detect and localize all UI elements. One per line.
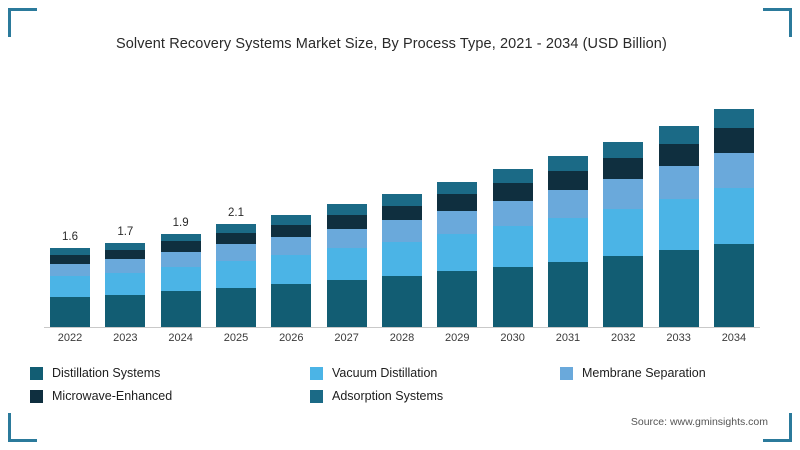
bar-segment[interactable]: [437, 194, 477, 210]
x-axis-tick-label: 2034: [714, 332, 754, 344]
corner-bracket-top-right: [763, 8, 792, 37]
plot-area: 1.61.71.92.1: [44, 92, 760, 328]
bar-segment[interactable]: [327, 229, 367, 249]
x-axis-tick-label: 2028: [382, 332, 422, 344]
bar-segment[interactable]: [327, 280, 367, 327]
bar-segment[interactable]: [548, 218, 588, 262]
legend-label: Vacuum Distillation: [332, 366, 437, 380]
x-axis-tick-label: 2033: [659, 332, 699, 344]
bar-segment[interactable]: [714, 109, 754, 128]
legend-label: Microwave-Enhanced: [52, 389, 172, 403]
bar-segment[interactable]: [603, 158, 643, 179]
x-axis-tick-label: 2031: [548, 332, 588, 344]
legend-row: Distillation SystemsVacuum DistillationM…: [30, 366, 770, 380]
bar-segment[interactable]: [271, 284, 311, 327]
bar-segment[interactable]: [382, 194, 422, 206]
bar-value-label: 1.9: [173, 217, 189, 229]
bar-column[interactable]: [603, 92, 643, 327]
bar-segment[interactable]: [437, 182, 477, 195]
legend-label: Distillation Systems: [52, 366, 160, 380]
bar-column[interactable]: 1.7: [105, 92, 145, 327]
bar-segment[interactable]: [659, 199, 699, 251]
corner-bracket-bottom-left: [8, 413, 37, 442]
bar-segment[interactable]: [161, 241, 201, 251]
bar-segment[interactable]: [659, 250, 699, 327]
bar-segment[interactable]: [548, 171, 588, 190]
legend-item[interactable]: Microwave-Enhanced: [30, 389, 310, 403]
x-axis-tick-label: 2030: [493, 332, 533, 344]
x-axis-tick-label: 2025: [216, 332, 256, 344]
legend-swatch-icon: [30, 390, 43, 403]
legend-row: Microwave-EnhancedAdsorption Systems: [30, 389, 770, 403]
chart-canvas: Solvent Recovery Systems Market Size, By…: [0, 0, 800, 450]
bar-segment[interactable]: [216, 261, 256, 288]
bar-segment[interactable]: [659, 126, 699, 144]
bar-segment[interactable]: [603, 256, 643, 327]
bar-segment[interactable]: [50, 297, 90, 327]
bar-segment[interactable]: [382, 220, 422, 242]
bar-column[interactable]: [493, 92, 533, 327]
bar-segment[interactable]: [714, 128, 754, 153]
bar-segment[interactable]: [603, 209, 643, 257]
bar-column[interactable]: [659, 92, 699, 327]
bar-segment[interactable]: [548, 190, 588, 218]
bar-segment[interactable]: [216, 233, 256, 244]
legend-swatch-icon: [310, 390, 323, 403]
bar-segment[interactable]: [603, 179, 643, 209]
x-axis-tick-label: 2022: [50, 332, 90, 344]
bar-group: 1.61.71.92.1: [44, 92, 760, 327]
bar-segment[interactable]: [161, 291, 201, 327]
bar-segment[interactable]: [493, 226, 533, 266]
corner-bracket-top-left: [8, 8, 37, 37]
legend-item[interactable]: Vacuum Distillation: [310, 366, 560, 380]
legend-label: Adsorption Systems: [332, 389, 443, 403]
bar-segment[interactable]: [493, 169, 533, 183]
chart-title: Solvent Recovery Systems Market Size, By…: [116, 36, 667, 52]
legend-swatch-icon: [310, 367, 323, 380]
legend: Distillation SystemsVacuum DistillationM…: [30, 366, 770, 412]
x-axis-tick-label: 2026: [271, 332, 311, 344]
bar-column[interactable]: [382, 92, 422, 327]
bar-column[interactable]: 1.9: [161, 92, 201, 327]
bar-segment[interactable]: [437, 271, 477, 327]
bar-column[interactable]: 2.1: [216, 92, 256, 327]
bar-segment[interactable]: [548, 262, 588, 327]
x-axis-tick-label: 2029: [437, 332, 477, 344]
bar-segment[interactable]: [50, 264, 90, 277]
bar-segment[interactable]: [493, 183, 533, 201]
bar-column[interactable]: [271, 92, 311, 327]
bar-segment[interactable]: [105, 295, 145, 327]
bar-column[interactable]: [437, 92, 477, 327]
bar-segment[interactable]: [493, 201, 533, 227]
bar-segment[interactable]: [327, 204, 367, 215]
bar-value-label: 1.6: [62, 231, 78, 243]
legend-swatch-icon: [560, 367, 573, 380]
bar-segment[interactable]: [437, 211, 477, 235]
bar-segment[interactable]: [714, 153, 754, 188]
bar-segment[interactable]: [161, 234, 201, 242]
bar-segment[interactable]: [216, 288, 256, 327]
bar-segment[interactable]: [271, 237, 311, 255]
bar-segment[interactable]: [714, 244, 754, 327]
bar-segment[interactable]: [382, 242, 422, 276]
bar-segment[interactable]: [493, 267, 533, 327]
legend-item[interactable]: Membrane Separation: [560, 366, 770, 380]
x-axis-tick-label: 2032: [603, 332, 643, 344]
bar-segment[interactable]: [50, 276, 90, 296]
bar-segment[interactable]: [216, 244, 256, 261]
bar-segment[interactable]: [161, 252, 201, 267]
bar-segment[interactable]: [327, 215, 367, 229]
bar-segment[interactable]: [161, 267, 201, 291]
x-axis-tick-label: 2023: [105, 332, 145, 344]
bar-segment[interactable]: [105, 250, 145, 259]
x-axis-tick-label: 2024: [161, 332, 201, 344]
bar-segment[interactable]: [603, 142, 643, 158]
x-axis-tick-labels: 2022202320242025202620272028202920302031…: [44, 332, 760, 344]
source-note: Source: www.gminsights.com: [631, 416, 768, 428]
x-axis-tick-label: 2027: [327, 332, 367, 344]
legend-swatch-icon: [30, 367, 43, 380]
bar-value-label: 1.7: [117, 226, 133, 238]
bar-segment[interactable]: [382, 206, 422, 221]
bar-segment[interactable]: [659, 144, 699, 167]
bar-segment[interactable]: [548, 156, 588, 171]
bar-segment[interactable]: [216, 224, 256, 233]
x-axis-line: [44, 327, 760, 328]
bar-segment[interactable]: [659, 166, 699, 198]
bar-segment[interactable]: [714, 188, 754, 244]
bar-column[interactable]: [714, 92, 754, 327]
legend-label: Membrane Separation: [582, 366, 706, 380]
bar-column[interactable]: [548, 92, 588, 327]
bar-segment[interactable]: [105, 259, 145, 273]
bar-segment[interactable]: [271, 255, 311, 284]
bar-segment[interactable]: [271, 225, 311, 237]
bar-segment[interactable]: [50, 255, 90, 264]
bar-segment[interactable]: [437, 234, 477, 271]
legend-item[interactable]: Distillation Systems: [30, 366, 310, 380]
legend-item[interactable]: Adsorption Systems: [310, 389, 560, 403]
bar-value-label: 2.1: [228, 207, 244, 219]
bar-segment[interactable]: [105, 273, 145, 295]
bar-column[interactable]: 1.6: [50, 92, 90, 327]
bar-segment[interactable]: [271, 215, 311, 225]
bar-segment[interactable]: [382, 276, 422, 327]
bar-column[interactable]: [327, 92, 367, 327]
bar-segment[interactable]: [327, 248, 367, 279]
